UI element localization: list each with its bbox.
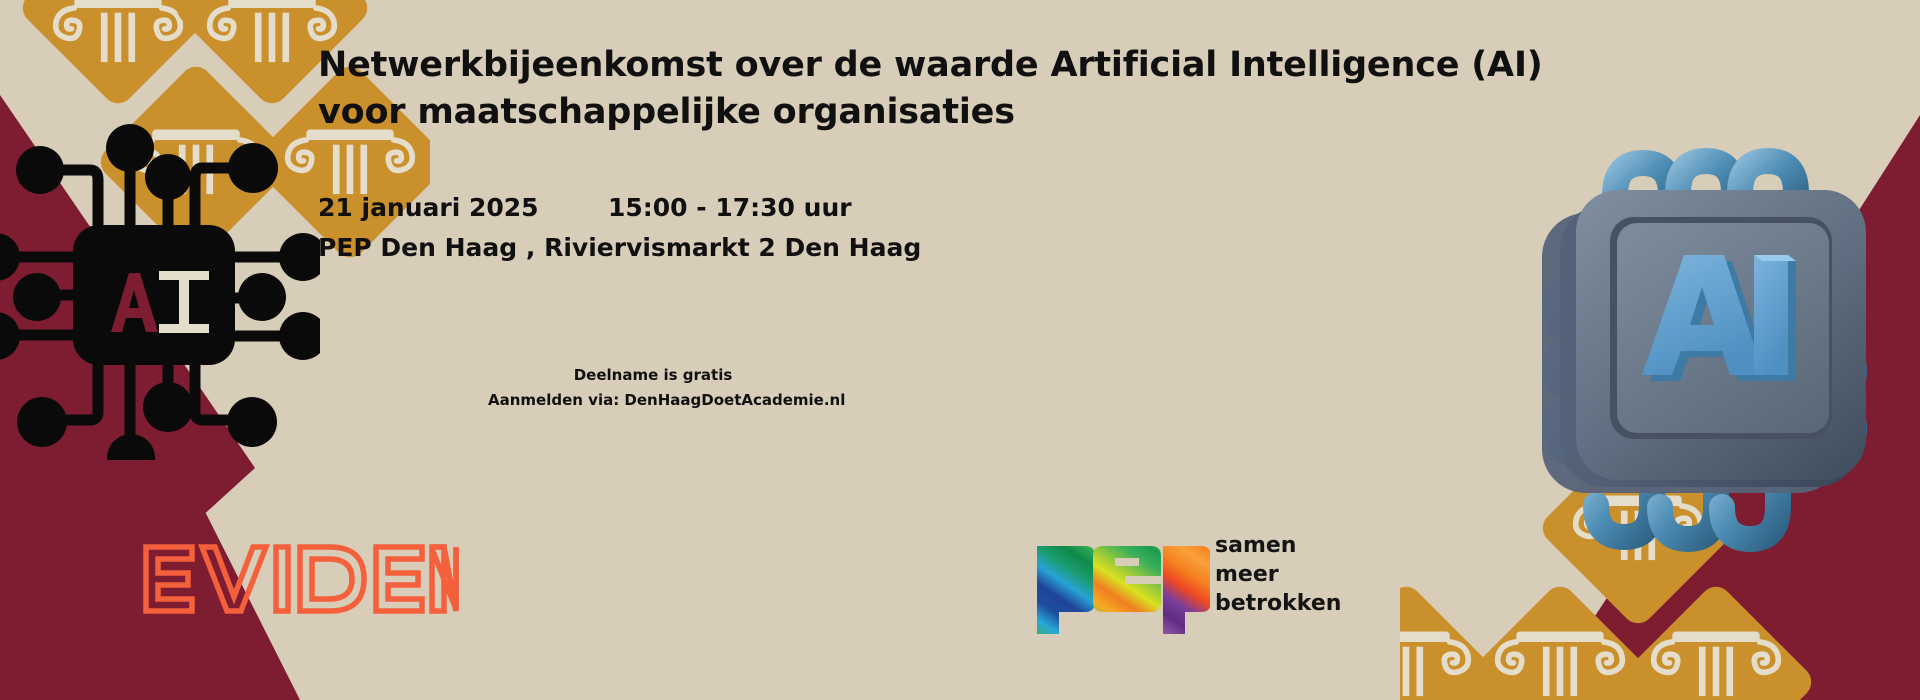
ai-circuit-chip-icon	[0, 120, 320, 460]
pep-logo: samen meer betrokken	[1035, 528, 1455, 638]
pep-tagline: samen meer betrokken	[1215, 531, 1341, 618]
date-time-row: 21 januari 202515:00 - 17:30 uur	[318, 188, 921, 228]
title-line-2: voor maatschappelijke organisaties	[318, 89, 1418, 136]
pep-wordmark-icon	[1035, 528, 1210, 636]
event-banner: Netwerkbijeenkomst over de waarde Artifi…	[0, 0, 1920, 700]
headline-block: Netwerkbijeenkomst over de waarde Artifi…	[318, 42, 1418, 136]
ai-3d-chip-icon	[1480, 135, 1920, 565]
notice-free-line: Deelname is gratis	[488, 363, 818, 388]
registration-notice: Deelname is gratis Aanmelden via: DenHaa…	[488, 363, 818, 413]
notice-signup-line[interactable]: Aanmelden via: DenHaagDoetAcademie.nl	[488, 388, 818, 413]
pep-tagline-line-1: samen	[1215, 531, 1341, 560]
event-date: 21 januari 2025	[318, 188, 608, 228]
title-line-1: Netwerkbijeenkomst over de waarde Artifi…	[318, 42, 1418, 89]
pep-tagline-line-2: meer	[1215, 560, 1341, 589]
event-location: PEP Den Haag , Riviervismarkt 2 Den Haag	[318, 228, 921, 268]
event-time: 15:00 - 17:30 uur	[608, 193, 852, 222]
pep-tagline-line-3: betrokken	[1215, 589, 1341, 618]
eviden-logo	[140, 525, 460, 635]
event-details: 21 januari 202515:00 - 17:30 uur PEP Den…	[318, 188, 921, 268]
